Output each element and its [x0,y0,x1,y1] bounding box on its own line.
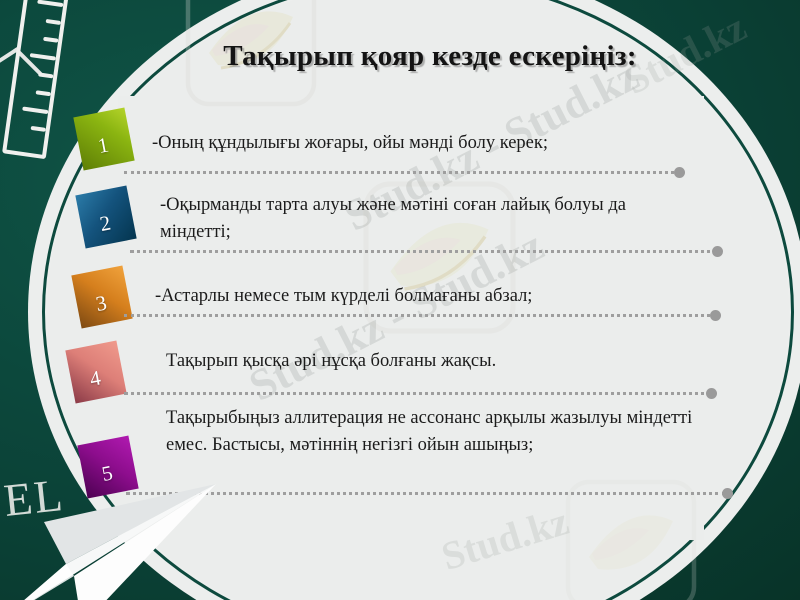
item-text-1: -Оның құндылығы жоғары, ойы мәнді болу к… [152,130,732,157]
item-text-3: -Астарлы немесе тым күрделі болмағаны аб… [155,283,735,310]
item-divider-1 [124,171,680,174]
item-divider-enddot-4 [706,388,717,399]
item-number-label: 2 [98,210,113,237]
item-divider-2 [130,250,718,253]
item-text-4: Тақырып қысқа әрі нұсқа болғаны жақсы. [166,348,736,375]
item-number-label: 1 [96,132,111,159]
item-number-label: 4 [88,365,103,392]
item-divider-enddot-1 [674,167,685,178]
item-number-badge-1: 1 [73,108,134,171]
item-divider-3 [124,314,716,317]
item-divider-4 [124,392,712,395]
item-text-2: -Оқырманды тарта алуы және мәтіні соған … [160,192,680,246]
item-number-badge-4: 4 [65,341,126,404]
item-number-label: 3 [94,290,109,317]
item-divider-enddot-3 [710,310,721,321]
item-number-badge-3: 3 [71,266,132,329]
item-text-5: Тақырыбыңыз аллитерация не ассонанс арқы… [166,405,726,459]
item-divider-enddot-5 [722,488,733,499]
item-divider-enddot-2 [712,246,723,257]
item-number-badge-2: 2 [75,186,136,249]
slide-canvas: Stud.kz - Stud.kz Stud.kz - Stud.kz Stud… [0,0,800,600]
paper-plane-icon [0,456,220,600]
